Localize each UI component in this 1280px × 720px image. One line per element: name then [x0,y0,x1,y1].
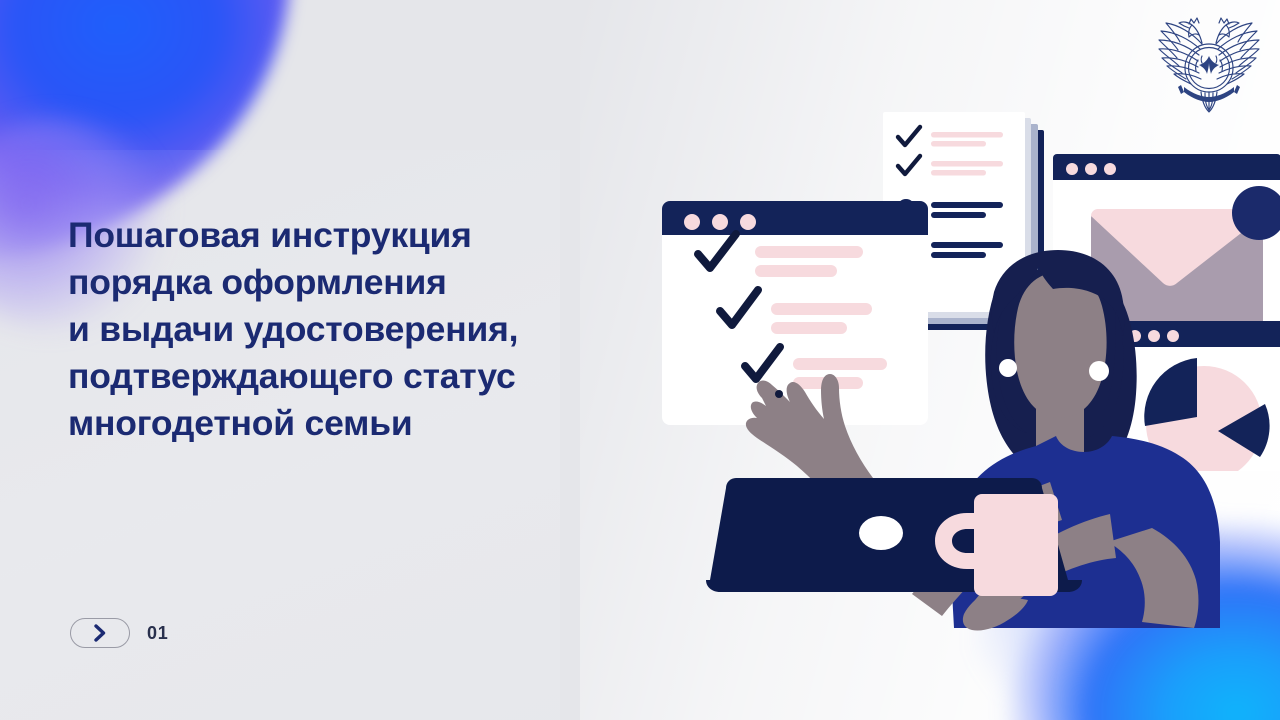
checklist-line-3a [793,358,887,370]
browser-checklist-dot-1 [684,214,700,230]
presentation-slide: Пошаговая инструкция порядка оформления … [0,0,1280,720]
browser-mail-dot-2 [1085,163,1097,175]
browser-mail-dot-3 [1104,163,1116,175]
browser-mail-dot-1 [1066,163,1078,175]
next-slide-button[interactable] [70,618,130,648]
chevron-right-icon [92,624,108,642]
pager: 01 [70,618,169,648]
browser-checklist-dot-3 [740,214,756,230]
checklist-line-1b [755,265,837,277]
mug-body [974,494,1058,596]
browser-checklist-titlebar [662,201,928,235]
document-line-1a [931,132,1003,138]
laptop-logo [859,516,903,550]
document-line-1b [931,141,986,147]
woman-face [1014,272,1106,418]
checklist-line-2a [771,303,872,315]
browser-checklist-dot-2 [712,214,728,230]
document-line-4a [931,242,1003,248]
browser-pie-dot-2 [1148,330,1160,342]
document-line-4b [931,252,986,258]
document-line-3a [931,202,1003,208]
page-title: Пошаговая инструкция порядка оформления … [68,212,668,447]
checklist-line-1a [755,246,863,258]
document-line-2a [931,161,1003,167]
document-line-2b [931,170,986,176]
browser-pie-dot-3 [1167,330,1179,342]
woman-with-laptop-checklist-illustration [640,96,1280,720]
woman-earring-right [1089,361,1109,381]
document-line-3b [931,212,986,218]
page-number: 01 [147,623,169,644]
checklist-line-2b [771,322,847,334]
woman-hand-ring [775,390,783,398]
woman-earring-left [999,359,1017,377]
